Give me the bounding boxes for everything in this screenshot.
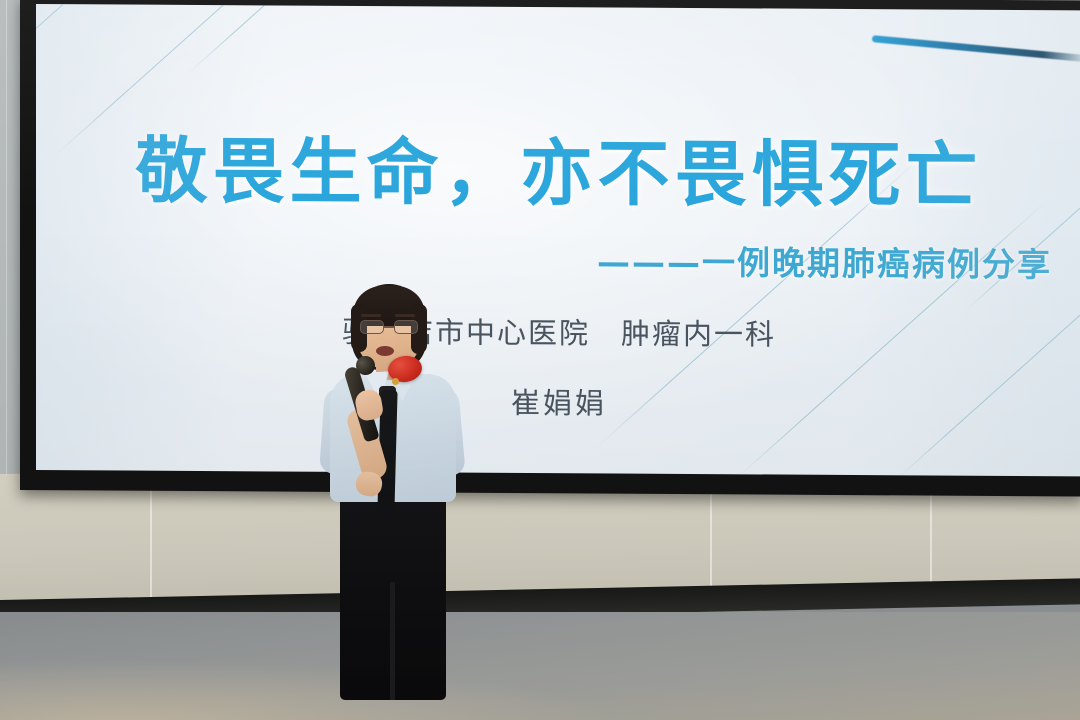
glasses-icon <box>359 320 419 335</box>
glasses-bridge <box>384 326 394 328</box>
glasses-lens-right <box>394 320 418 334</box>
speaker-trouser-seam <box>390 582 395 700</box>
slide-title: 敬畏生命，亦不畏惧死亡 <box>36 132 1080 215</box>
speaker-figure <box>300 282 490 720</box>
glasses-lens-left <box>360 320 384 334</box>
decorative-accent-bar <box>872 35 1080 62</box>
wall-seam <box>6 0 7 500</box>
decorative-diagonal-line <box>896 260 1080 476</box>
slide-presenter: 崔娟娟 <box>36 377 1080 425</box>
slide-affiliation: 驻马店市中心医院 肿瘤内一科 <box>36 307 1080 355</box>
decorative-diagonal-line <box>186 4 410 76</box>
speaker-mouth <box>376 346 394 356</box>
decorative-diagonal-line <box>36 4 219 65</box>
speaker-eyebrow-left <box>361 314 381 317</box>
badge-pin <box>392 378 399 385</box>
speaker-eyebrow-right <box>395 314 415 317</box>
presentation-photo: 敬畏生命，亦不畏惧死亡 ———一例晚期肺癌病例分享 驻马店市中心医院 肿瘤内一科… <box>0 0 1080 720</box>
projection-screen-surface: 敬畏生命，亦不畏惧死亡 ———一例晚期肺癌病例分享 驻马店市中心医院 肿瘤内一科… <box>36 4 1080 476</box>
panel-seam <box>150 472 152 614</box>
slide-subtitle: ———一例晚期肺癌病例分享 <box>36 239 1080 285</box>
